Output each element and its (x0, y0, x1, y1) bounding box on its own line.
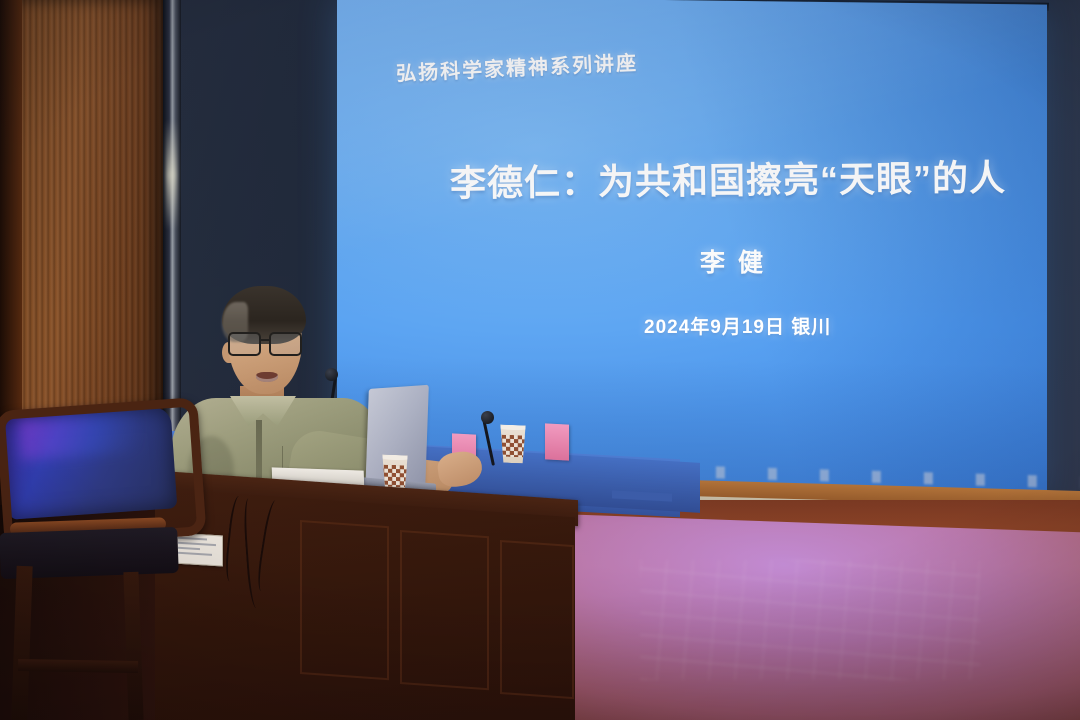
presenter-mouth (256, 372, 278, 382)
podium-label-plate (173, 532, 223, 566)
metal-strip-highlight (166, 120, 177, 230)
chair-stretcher (18, 659, 138, 673)
glasses-lens-right (269, 332, 302, 356)
label-line (178, 552, 212, 556)
label-line (178, 537, 207, 541)
lecture-hall-scene: 弘扬科学家精神系列讲座 李德仁：为共和国擦亮“天眼”的人 李 健 2024年9月… (0, 0, 1080, 720)
slide-speaker-name: 李 健 (700, 243, 766, 279)
name-card (545, 423, 569, 460)
podium-panel (400, 530, 489, 690)
label-line (178, 547, 200, 550)
label-line (178, 542, 216, 546)
podium-panel (500, 540, 574, 699)
glasses-icon (226, 332, 306, 354)
podium-panel (300, 520, 389, 680)
glasses-lens-left (228, 332, 261, 356)
glasses-bridge (259, 339, 270, 341)
slide-date-location: 2024年9月19日 银川 (644, 312, 831, 339)
floor-reflection-grid (640, 560, 980, 680)
microphone-head (481, 411, 494, 424)
slide-title: 李德仁：为共和国擦亮“天眼”的人 (450, 149, 1007, 207)
